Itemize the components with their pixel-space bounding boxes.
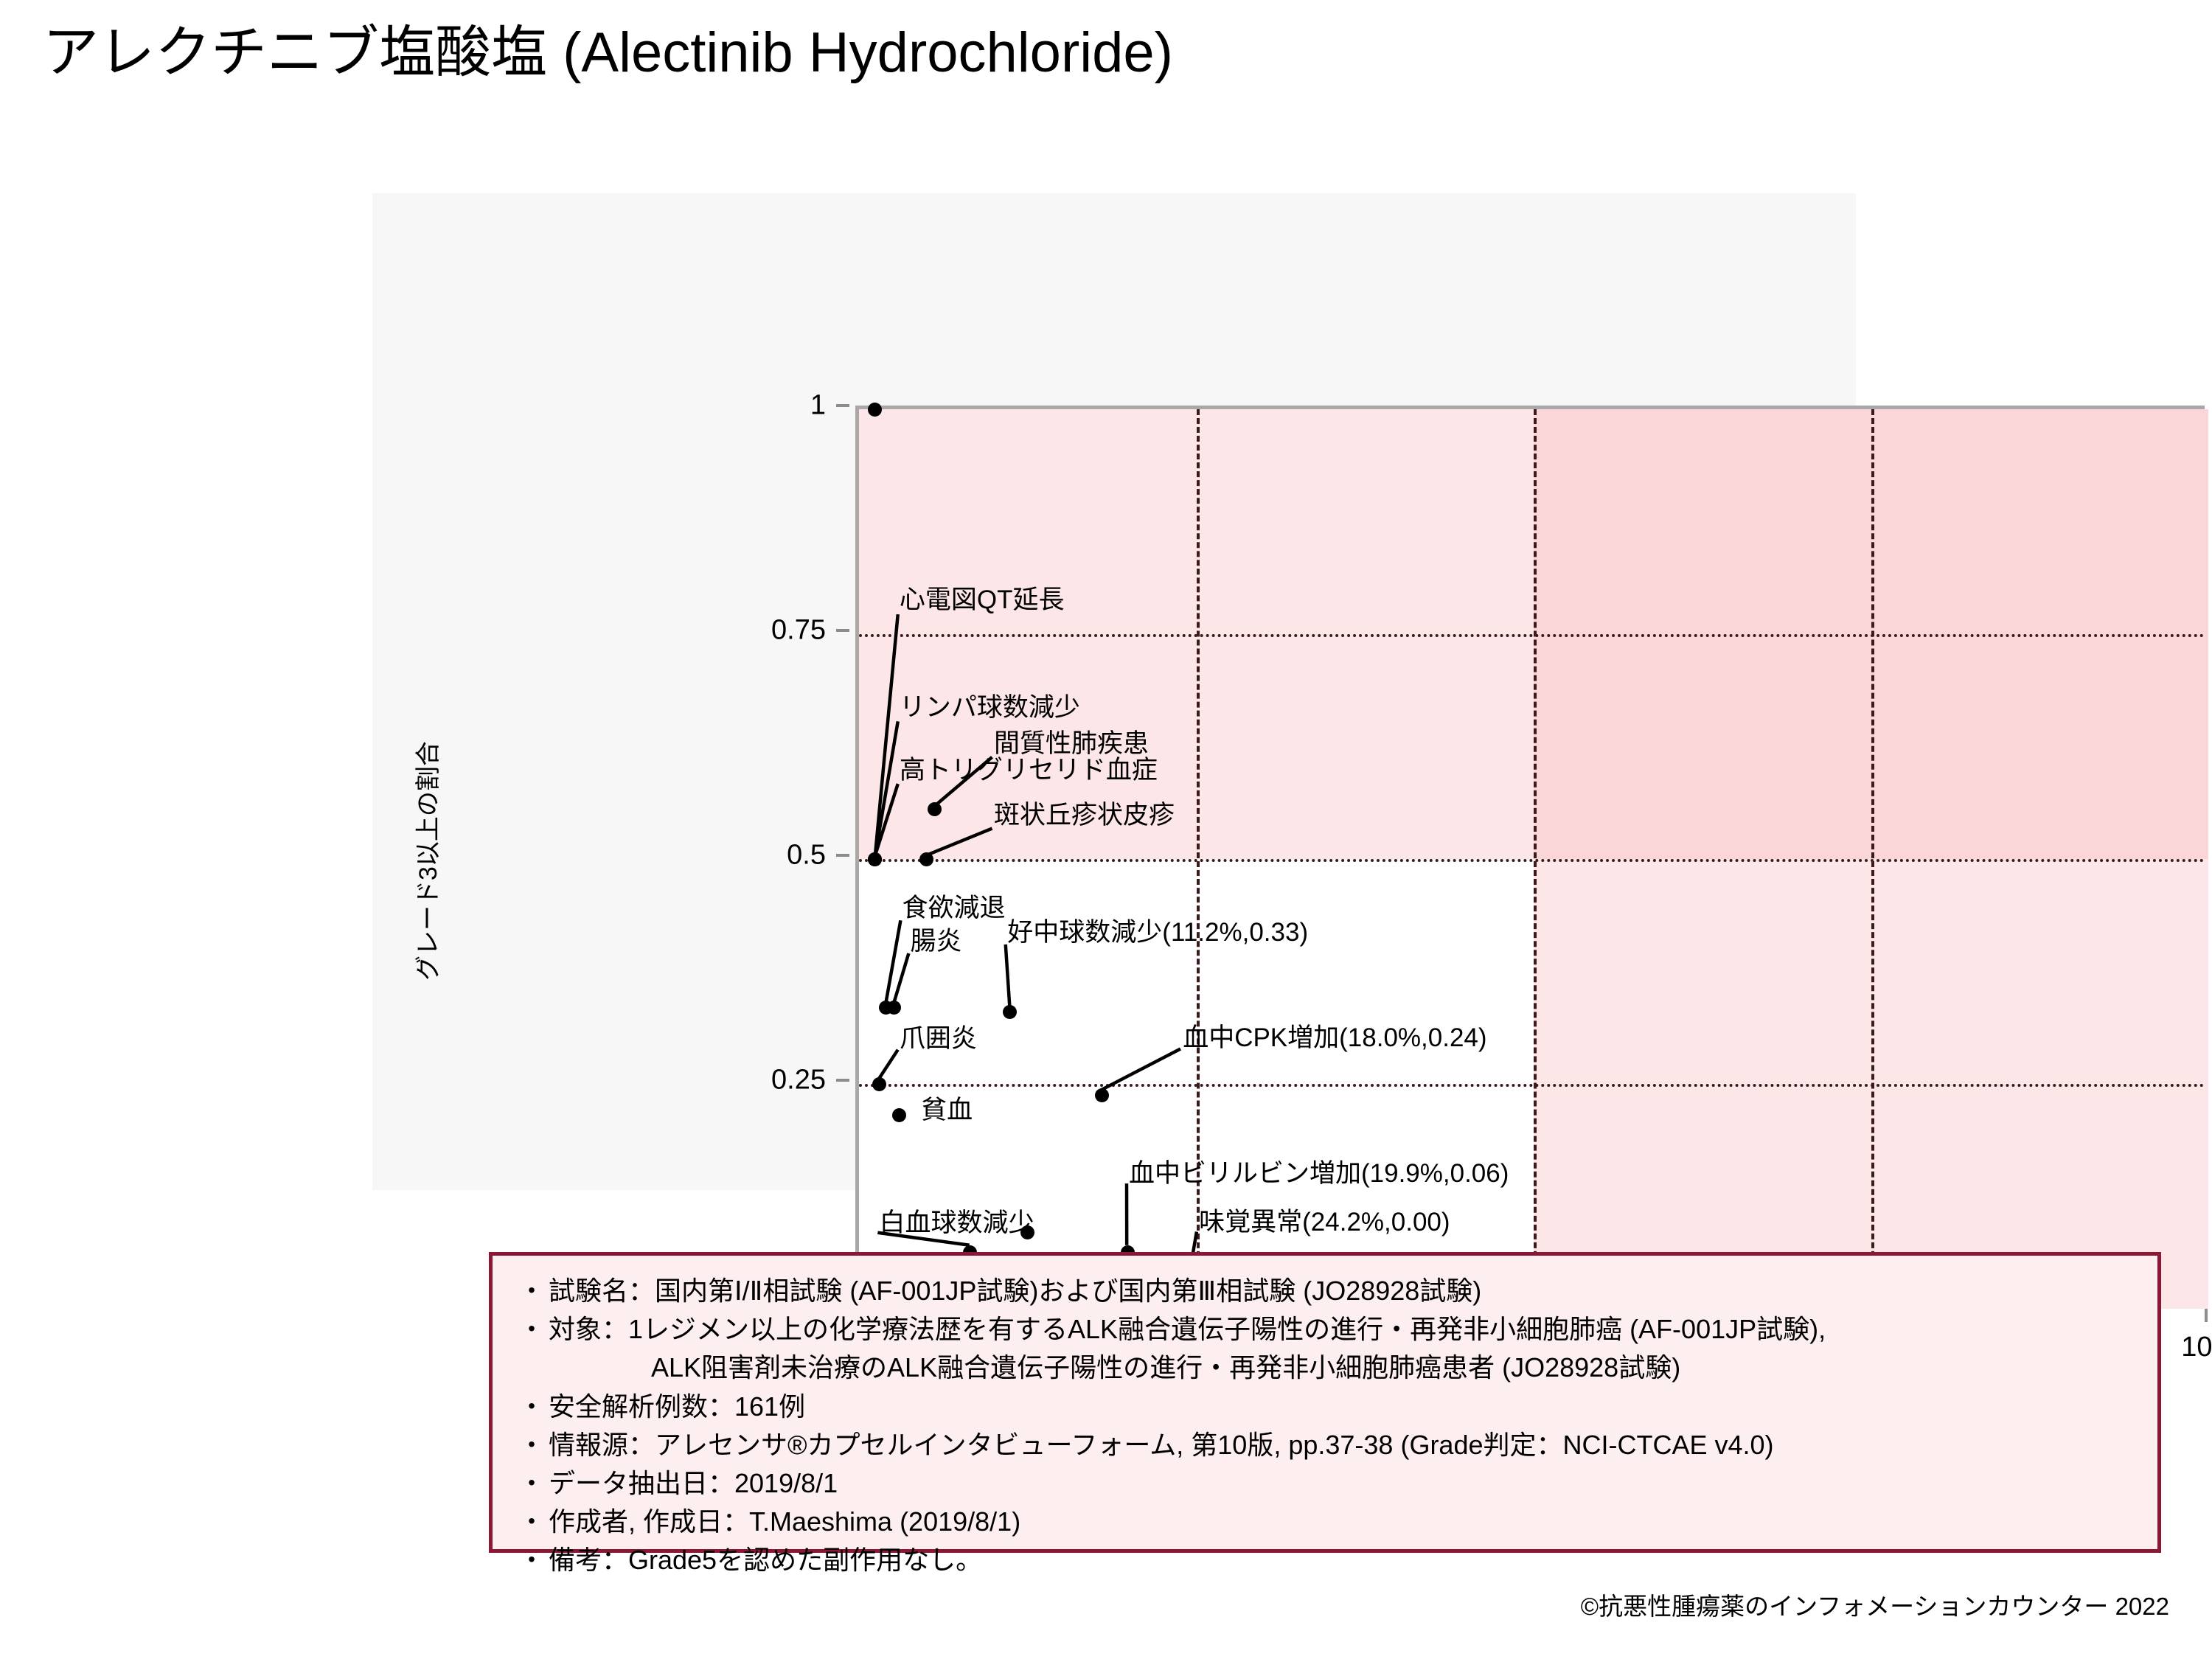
data-point-labeled [887,1001,901,1015]
leader-line [926,829,992,855]
bullet-icon: • [515,1503,549,1539]
point-label: 食欲減退 [902,895,1006,921]
chart-panel: グレード3以上の割合 00.250.50.751 0255075100 全グレー… [372,193,1856,1190]
plot-area: 心電図QT延長リンパ球数減少高トリグリセリド血症間質性肺疾患斑状丘疹状皮疹食欲減… [855,406,2205,1305]
info-bullet-text: 情報源：アレセンサ®カプセルインタビューフォーム, 第10版, pp.37-38… [549,1426,2135,1464]
point-label: 間質性肺疾患 [994,731,1149,757]
info-bullet-text: 安全解析例数：161例 [549,1388,2135,1426]
leader-line [879,1050,897,1079]
data-point-labeled [872,1077,886,1091]
point-label: 味覚異常(24.2%,0.00) [1199,1209,1450,1235]
leader-lines [859,409,2205,1301]
y-tick-label: 0.5 [372,840,826,872]
y-tick-mark [836,629,849,632]
data-point-labeled [919,852,933,866]
point-label: 血中CPK増加(18.0%,0.24) [1183,1025,1486,1051]
info-continuation-text: ALK阻害剤未治療のALK融合遺伝子陽性の進行・再発非小細胞肺癌患者 (JO28… [515,1349,2135,1387]
copyright-footer: ©抗悪性腫瘍薬のインフォメーションカウンター 2022 [1581,1587,2169,1622]
point-label: 白血球数減少 [879,1210,1034,1236]
bullet-icon: • [515,1272,549,1308]
bullet-icon: • [515,1426,549,1462]
data-point [868,403,882,417]
info-bullet-row: •作成者, 作成日：T.Maeshima (2019/8/1) [515,1503,2135,1541]
point-label: 斑状丘疹状皮疹 [994,802,1175,828]
slide-page: アレクチニブ塩酸塩 (Alectinib Hydrochloride) グレード… [0,0,2212,1659]
info-bullet-text: 作成者, 作成日：T.Maeshima (2019/8/1) [549,1503,2135,1541]
point-label: 腸炎 [911,928,962,954]
info-bullet-row: •試験名：国内第Ⅰ/Ⅱ相試験 (AF-001JP試験)および国内第Ⅲ相試験 (J… [515,1272,2135,1310]
bullet-icon: • [515,1541,549,1577]
info-bullet-row: •対象：1レジメン以上の化学療法歴を有するALK融合遺伝子陽性の進行・再発非小細… [515,1310,2135,1349]
bullet-icon: • [515,1310,549,1346]
info-bullet-text: 備考：Grade5を認めた副作用なし。 [549,1541,2135,1579]
bullet-icon: • [515,1388,549,1424]
point-label: 貧血 [921,1097,973,1123]
leader-line [1102,1048,1181,1090]
y-tick-mark [836,404,849,407]
page-title: アレクチニブ塩酸塩 (Alectinib Hydrochloride) [43,22,1173,84]
leader-line [1006,945,1010,1007]
info-bullet-text: 対象：1レジメン以上の化学療法歴を有するALK融合遺伝子陽性の進行・再発非小細胞… [549,1310,2135,1349]
point-label: リンパ球数減少 [900,695,1080,720]
point-label: 血中ビリルビン増加(19.9%,0.06) [1129,1161,1509,1186]
info-bullet-row: •安全解析例数：161例 [515,1388,2135,1426]
point-label: 心電図QT延長 [900,587,1065,613]
info-bullet-row: •情報源：アレセンサ®カプセルインタビューフォーム, 第10版, pp.37-3… [515,1426,2135,1464]
y-tick-label: 1 [372,390,826,422]
data-point-labeled [868,852,882,866]
info-bullet-row: •備考：Grade5を認めた副作用なし。 [515,1541,2135,1579]
point-label: 好中球数減少(11.2%,0.33) [1007,919,1308,945]
info-bullet-row: •データ抽出日：2019/8/1 [515,1464,2135,1503]
info-bullet-text: 試験名：国内第Ⅰ/Ⅱ相試験 (AF-001JP試験)および国内第Ⅲ相試験 (JO… [549,1272,2135,1310]
y-tick-label: 0.75 [372,615,826,647]
y-tick-mark [836,854,849,857]
y-tick-label: 0.25 [372,1065,826,1096]
point-label: 高トリグリセリド血症 [900,757,1158,783]
bullet-icon: • [515,1464,549,1500]
point-label: 爪囲炎 [900,1026,977,1051]
leader-line [894,953,908,1003]
info-bullet-text: データ抽出日：2019/8/1 [549,1464,2135,1503]
x-tick-mark [2205,1309,2208,1322]
x-tick-label: 100 [2181,1332,2212,1363]
study-info-box: •試験名：国内第Ⅰ/Ⅱ相試験 (AF-001JP試験)および国内第Ⅲ相試験 (J… [489,1252,2161,1553]
y-tick-mark [836,1079,849,1082]
